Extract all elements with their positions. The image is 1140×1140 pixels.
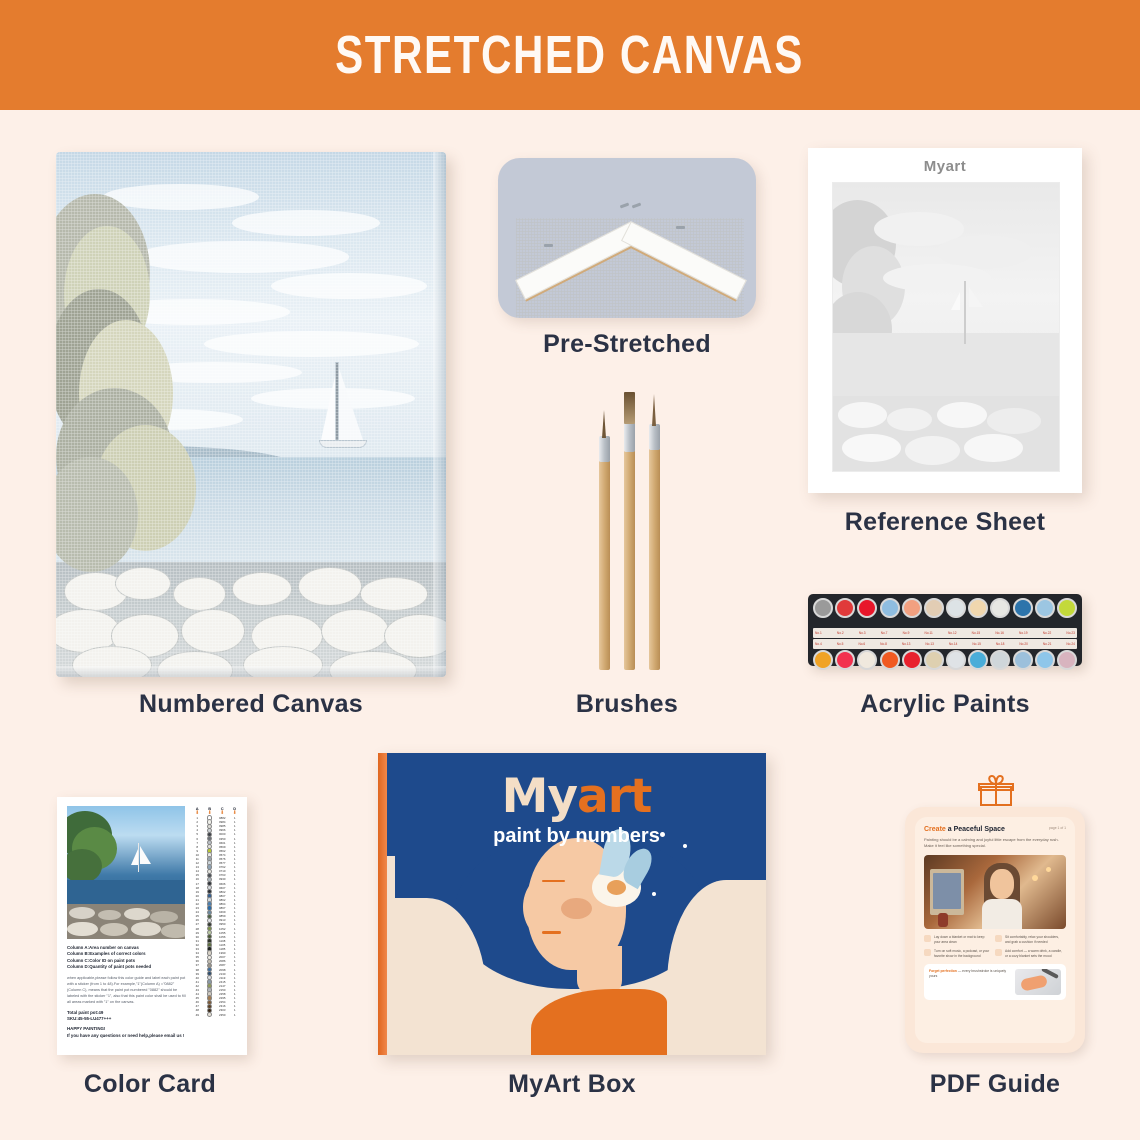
pdf-guide-photo: [924, 855, 1066, 929]
caption-numbered-canvas: Numbered Canvas: [56, 690, 446, 719]
paint-pot-label: No.5: [837, 639, 844, 649]
paint-pot-label: No.12: [948, 628, 957, 638]
tip-text: Add comfort — a warm drink, a candle, or…: [1005, 949, 1062, 958]
area-number: 49: [191, 1013, 204, 1017]
contact-line: If you have any questions or need help,p…: [67, 1033, 187, 1039]
paint-pot: [813, 598, 833, 618]
tip-icon: [924, 935, 931, 942]
paint-pot: [1057, 598, 1077, 618]
paint-pot: [968, 598, 988, 618]
myart-box-image: Myart paint by numbers: [378, 753, 766, 1055]
caption-reference-sheet: Reference Sheet: [808, 508, 1082, 537]
pdf-guide-tip: Turn on soft music, a podcast, or your f…: [924, 949, 995, 958]
paint-pot: [880, 650, 900, 670]
paint-pot: [946, 598, 966, 618]
numbered-canvas-image: [56, 152, 446, 677]
paint-pot: [880, 598, 900, 618]
paint-pot-label: No.13: [925, 639, 934, 649]
logo-my-text: My: [502, 769, 577, 824]
tip-text: Turn on soft music, a podcast, or your f…: [934, 949, 991, 958]
logo-art-text: art: [577, 769, 651, 824]
pdf-guide-title: Create a Peaceful Space: [924, 826, 1066, 833]
color-id: 2350: [216, 1013, 229, 1017]
paint-pot: [990, 650, 1010, 670]
paint-pot-label: No.22: [1043, 628, 1052, 638]
paint-pot: [902, 598, 922, 618]
paint-pot-row-top: [813, 598, 1077, 627]
staple-icon: [632, 203, 641, 209]
legend-line: Column D:Quantity of paint pots needed: [67, 964, 187, 970]
caption-pre-stretched: Pre-Stretched: [498, 330, 756, 359]
sku-label: SKU:45-55-LU477+++: [67, 1016, 187, 1022]
tip-text: Sit comfortably, relax your shoulders, a…: [1005, 935, 1062, 944]
caption-pdf-guide: PDF Guide: [890, 1070, 1100, 1099]
page-header: STRETCHED CANVAS: [0, 0, 1140, 110]
paint-pot: [1013, 598, 1033, 618]
paint-pot-label: No.24: [1066, 639, 1075, 649]
paint-pot-label: No.15: [972, 628, 981, 638]
caption-brushes: Brushes: [498, 690, 756, 719]
staple-icon: [544, 244, 553, 247]
pdf-guide-subtitle: Painting should be a calming and joyful …: [924, 837, 1066, 849]
paint-pot-label: No.14: [949, 639, 958, 649]
paint-pot-label: No.21: [1043, 639, 1052, 649]
pdf-guide-tips: Lay down a blanket or mat to keep your a…: [924, 935, 1066, 963]
paint-pot: [946, 650, 966, 670]
color-card-legend: Column A:Area number on canvas Column B:…: [67, 945, 187, 1039]
pdf-guide-tip: Lay down a blanket or mat to keep your a…: [924, 935, 995, 944]
color-card-reference-photo: [67, 806, 185, 939]
pre-stretched-image: [498, 158, 756, 318]
paint-pot-label: No.9: [903, 628, 910, 638]
paint-pot-label: No.19: [1019, 628, 1028, 638]
gift-icon: [977, 775, 1015, 807]
paint-pot-label: No.16: [995, 628, 1004, 638]
paint-pot: [1035, 598, 1055, 618]
paint-pot: [990, 598, 1010, 618]
paint-label-strip-bottom: No.4No.5No.6No.8No.13No.13No.14No.15No.1…: [813, 639, 1077, 649]
paint-pot-label: No.8: [880, 639, 887, 649]
brand-tagline: paint by numbers: [387, 825, 766, 848]
pdf-guide-tip: Sit comfortably, relax your shoulders, a…: [995, 935, 1066, 944]
paint-pot-label: No.20: [1019, 639, 1028, 649]
paint-pot-label: No.7: [881, 628, 888, 638]
acrylic-paints-image: No.1No.2No.3No.7No.9No.11No.12No.15No.16…: [808, 594, 1082, 666]
tip-icon: [995, 935, 1002, 942]
box-edge: [378, 753, 387, 1055]
paint-pot: [924, 650, 944, 670]
paint-pot: [1013, 650, 1033, 670]
paint-pot-label: No.6: [858, 639, 865, 649]
note-thumbnail: [1015, 969, 1061, 995]
reference-sheet-logo: Myart: [808, 148, 1082, 175]
color-card-paragraph: when applicable,please follow this color…: [67, 975, 187, 1005]
caption-myart-box: MyArt Box: [378, 1070, 766, 1099]
tip-icon: [995, 949, 1002, 956]
color-table-row: 4923501: [191, 1013, 241, 1017]
pdf-page-label: page 1 of 1: [1049, 826, 1066, 830]
paint-pot: [924, 598, 944, 618]
paint-pot: [835, 598, 855, 618]
paint-pot: [857, 650, 877, 670]
brushes-image: [585, 388, 675, 673]
staple-icon: [676, 226, 685, 229]
paint-pot-label: No.15: [972, 639, 981, 649]
color-table-body: 1088212098413098514096615000016035017060…: [191, 816, 241, 1017]
pot-quantity: 1: [229, 1013, 242, 1017]
paint-pot-label: No.2: [837, 628, 844, 638]
pdf-title-rest: a Peaceful Space: [948, 826, 1005, 833]
pdf-guide-tip: Add comfort — a warm drink, a candle, or…: [995, 949, 1066, 958]
color-card-image: Column A:Area number on canvas Column B:…: [57, 797, 247, 1055]
pdf-guide-note: Forget perfection — every brushstroke is…: [924, 964, 1066, 1000]
note-bold: Forget perfection: [929, 969, 957, 973]
pdf-title-highlight: Create: [924, 826, 946, 833]
paint-pot-label: No.18: [996, 639, 1005, 649]
paint-pot-label: No.3: [859, 628, 866, 638]
paint-pot: [857, 598, 877, 618]
tip-icon: [924, 949, 931, 956]
paint-pot: [835, 650, 855, 670]
tip-text: Lay down a blanket or mat to keep your a…: [934, 935, 991, 944]
paint-pot-row-bottom: [813, 650, 1077, 679]
page-title: STRETCHED CANVAS: [336, 24, 805, 86]
paint-label-strip-top: No.1No.2No.3No.7No.9No.11No.12No.15No.16…: [813, 628, 1077, 638]
paint-pot-label: No.23: [1066, 628, 1075, 638]
staple-icon: [620, 203, 629, 209]
caption-acrylic-paints: Acrylic Paints: [808, 690, 1082, 719]
paint-pot: [968, 650, 988, 670]
paint-pot-label: No.13: [902, 639, 911, 649]
paint-pot-label: No.4: [815, 639, 822, 649]
paint-pot: [902, 650, 922, 670]
paint-pot-label: No.1: [815, 628, 822, 638]
myart-logo: Myart: [387, 769, 766, 824]
color-card-table: ABCD ⬇⬇⬇⬇ 108821209841309851409661500001…: [191, 806, 241, 1017]
reference-sheet-image: Myart: [808, 148, 1082, 493]
color-swatch: [207, 1012, 212, 1017]
paint-pot: [1035, 650, 1055, 670]
paint-pot: [813, 650, 833, 670]
caption-color-card: Color Card: [40, 1070, 260, 1099]
paint-pot-label: No.11: [925, 628, 933, 638]
paint-pot: [1057, 650, 1077, 670]
color-swatch-cell: [204, 1012, 217, 1017]
pdf-guide-image: page 1 of 1 Create a Peaceful Space Pain…: [905, 775, 1085, 1053]
